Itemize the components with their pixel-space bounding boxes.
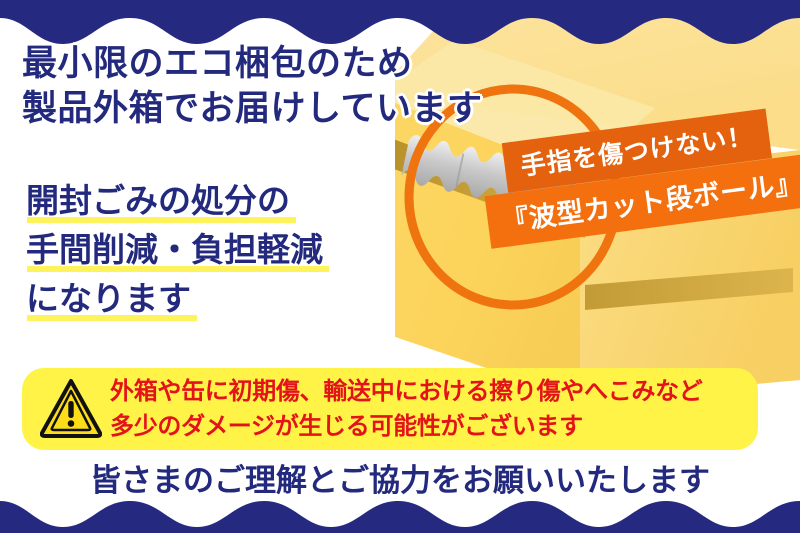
warning-triangle-icon — [40, 378, 102, 438]
subheadline-line-3: になります — [26, 282, 191, 323]
eco-packaging-notice-banner: 最小限のエコ梱包のため 製品外箱でお届けしています 開封ごみの処分の 手間削減・… — [0, 0, 800, 533]
subheadline-line-1: 開封ごみの処分の — [26, 184, 290, 225]
headline-line-1: 最小限のエコ梱包のため — [22, 42, 552, 87]
headline-block: 最小限のエコ梱包のため 製品外箱でお届けしています — [22, 42, 552, 132]
subheadline-block: 開封ごみの処分の 手間削減・負担軽減 になります — [26, 184, 446, 331]
headline-line-2: 製品外箱でお届けしています — [22, 87, 552, 132]
warning-line-1: 外箱や缶に初期傷、輸送中における擦り傷やへこみなど — [110, 374, 750, 409]
warning-line-2: 多少のダメージが生じる可能性がございます — [110, 409, 750, 444]
subheadline-line-2: 手間削減・負担軽減 — [26, 233, 323, 274]
warning-callout: 外箱や缶に初期傷、輸送中における擦り傷やへこみなど 多少のダメージが生じる可能性… — [22, 368, 758, 450]
closing-message: 皆さまのご理解とご協力をお願いいたします — [0, 455, 800, 500]
warning-text-block: 外箱や缶に初期傷、輸送中における擦り傷やへこみなど 多少のダメージが生じる可能性… — [110, 374, 750, 444]
